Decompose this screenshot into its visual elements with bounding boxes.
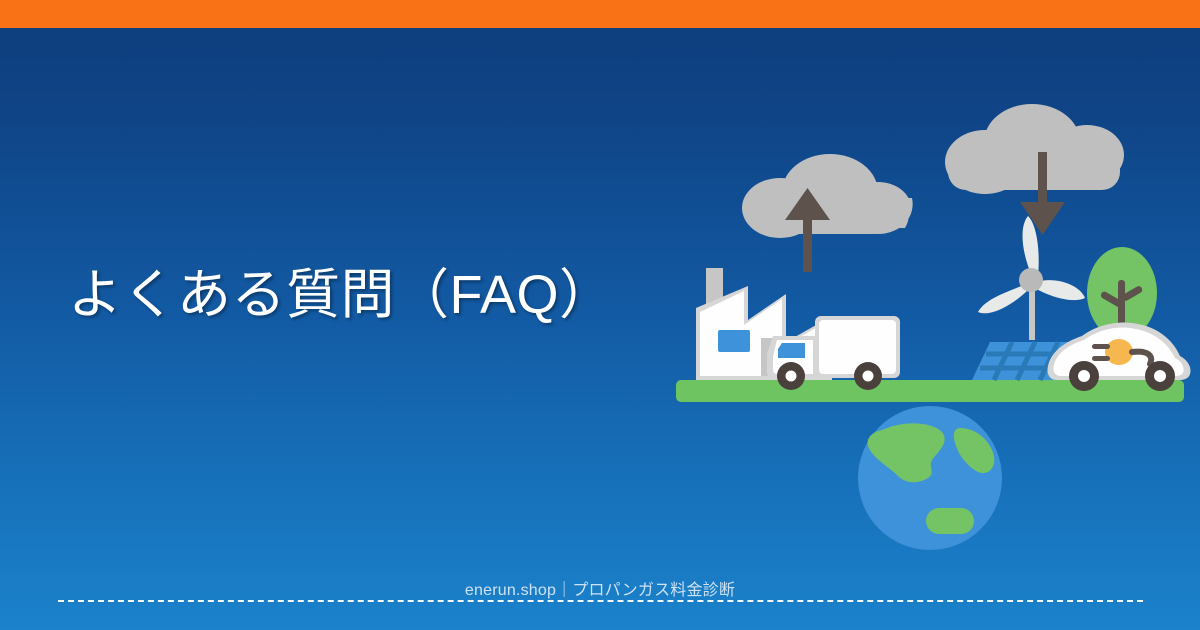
- cloud-absorption-right: [945, 104, 1124, 194]
- carbon-neutral-balance-illustration: [660, 80, 1200, 560]
- footer-brand-text: enerun.shop｜プロパンガス料金診断: [0, 576, 1200, 600]
- wind-turbine: [978, 216, 1085, 340]
- delivery-truck: [767, 316, 900, 390]
- balance-bar: [676, 380, 1184, 402]
- factory-window: [718, 330, 750, 352]
- truck-windshield: [778, 343, 805, 358]
- slide-canvas: よくある質問（FAQ）: [0, 0, 1200, 630]
- globe: [858, 406, 1002, 550]
- accent-top-bar: [0, 0, 1200, 28]
- turbine-hub: [1019, 268, 1043, 292]
- cloud-emission-left: [742, 154, 913, 238]
- page-title: よくある質問（FAQ）: [68, 262, 628, 330]
- footer-divider: [58, 600, 1143, 602]
